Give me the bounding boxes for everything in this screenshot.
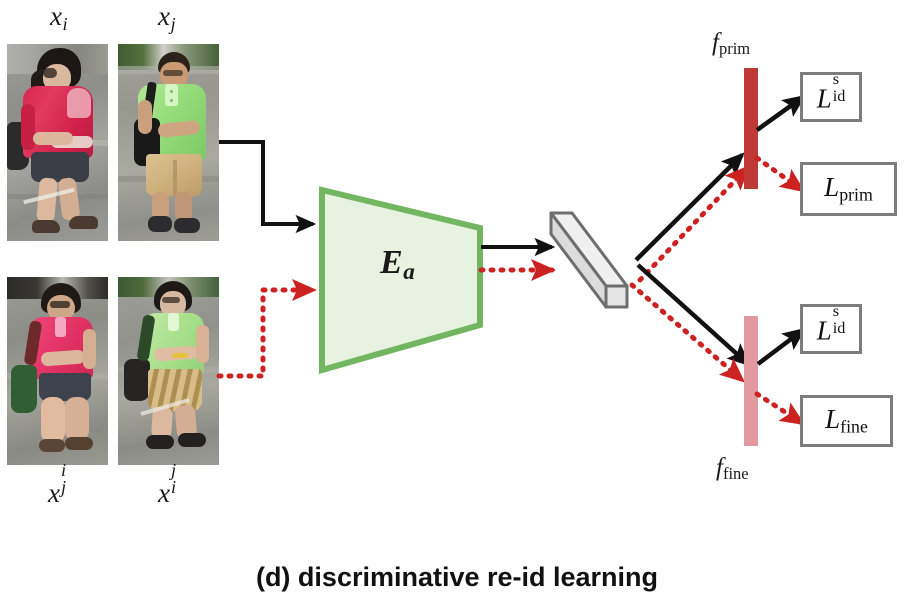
feature-vector-block[interactable]: [551, 213, 627, 307]
branch-prim-dotted-arrow: [640, 168, 747, 280]
feature-bar-prim[interactable]: [744, 68, 758, 189]
generated-image-path: [219, 290, 313, 376]
prim-to-lprim-arrow: [757, 158, 802, 190]
loss-box-lid-fine[interactable]: Lsid: [800, 304, 862, 354]
diagram-connectors: [0, 0, 914, 610]
loss-box-lfine[interactable]: Lfine: [800, 395, 893, 447]
feature-bar-prim-label: fprim: [712, 30, 750, 58]
figure-discriminative-reid: xi xj xij xji: [0, 0, 914, 610]
branch-fine-dotted-arrow: [632, 285, 742, 380]
feature-bar-fine[interactable]: [744, 316, 758, 446]
branch-prim-solid-arrow: [636, 155, 742, 260]
loss-box-lid-prim[interactable]: Lsid: [800, 72, 862, 122]
fine-to-lfine-arrow: [757, 394, 802, 423]
fine-to-lid-arrow: [758, 330, 803, 364]
encoder-label: Ea: [380, 246, 415, 285]
prim-to-lid-arrow: [757, 97, 803, 130]
loss-box-lprim[interactable]: Lprim: [800, 162, 897, 216]
branch-fine-solid-arrow: [638, 265, 748, 364]
feature-bar-fine-label: ffine: [716, 455, 749, 483]
real-image-path: [219, 142, 313, 224]
figure-caption: (d) discriminative re-id learning: [0, 562, 914, 593]
